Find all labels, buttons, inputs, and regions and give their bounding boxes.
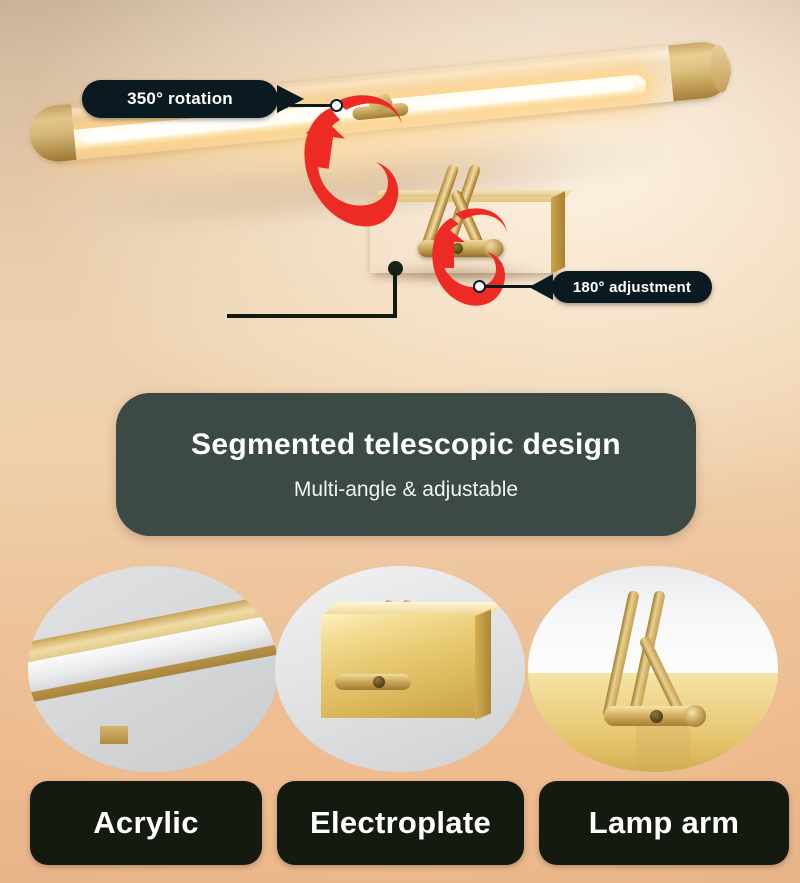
banner-subline: Multi-angle & adjustable: [294, 478, 518, 502]
lamp-arm-photo-stem: [636, 726, 690, 772]
feature-label-electroplate[interactable]: Electroplate: [277, 781, 524, 865]
banner-headline: Segmented telescopic design: [191, 428, 621, 462]
infographic-canvas: 350° rotation 180° adjustment Segmented …: [0, 0, 800, 883]
electroplate-photo-bolt: [373, 676, 385, 688]
rotation-arrow-180: [425, 190, 511, 316]
feature-label-lamp-arm-text: Lamp arm: [589, 805, 740, 841]
feature-image-electroplate: [275, 566, 525, 772]
feature-label-lamp-arm[interactable]: Lamp arm: [539, 781, 789, 865]
back-plate-side-face: [551, 191, 565, 274]
feature-circle-acrylic: [28, 566, 278, 772]
adjustment-leader-line: [481, 285, 533, 288]
feature-label-acrylic[interactable]: Acrylic: [30, 781, 262, 865]
callout-180-adjustment[interactable]: 180° adjustment: [552, 271, 712, 303]
lamp-arm-photo-bolt: [650, 710, 663, 723]
rotation-arrow-350: [296, 62, 406, 252]
back-plate-leader-vertical: [393, 270, 397, 318]
tube-end-cap-right: [668, 40, 733, 102]
tube-end-cap-left: [27, 104, 76, 164]
feature-image-acrylic: [28, 566, 278, 772]
adjustment-leader-dot: [473, 280, 486, 293]
rotation-leader-dot: [330, 99, 343, 112]
electroplate-photo-box: [321, 614, 481, 718]
feature-label-electroplate-text: Electroplate: [310, 805, 491, 841]
feature-circle-lamp-arm: [528, 566, 778, 772]
electroplate-photo-box-side: [475, 610, 491, 720]
callout-350-rotation-label: 350° rotation: [127, 89, 233, 109]
feature-label-acrylic-text: Acrylic: [93, 805, 199, 841]
feature-circle-electroplate: [275, 566, 525, 772]
callout-350-rotation[interactable]: 350° rotation: [82, 80, 278, 118]
feature-image-lamp-arm: [528, 566, 778, 772]
callout-180-adjustment-label: 180° adjustment: [573, 279, 691, 296]
lamp-arm-photo-knob: [684, 705, 706, 727]
acrylic-photo-bracket-foot: [100, 726, 128, 744]
feature-banner: Segmented telescopic design Multi-angle …: [116, 393, 696, 536]
back-plate-leader-horizontal: [227, 314, 397, 318]
